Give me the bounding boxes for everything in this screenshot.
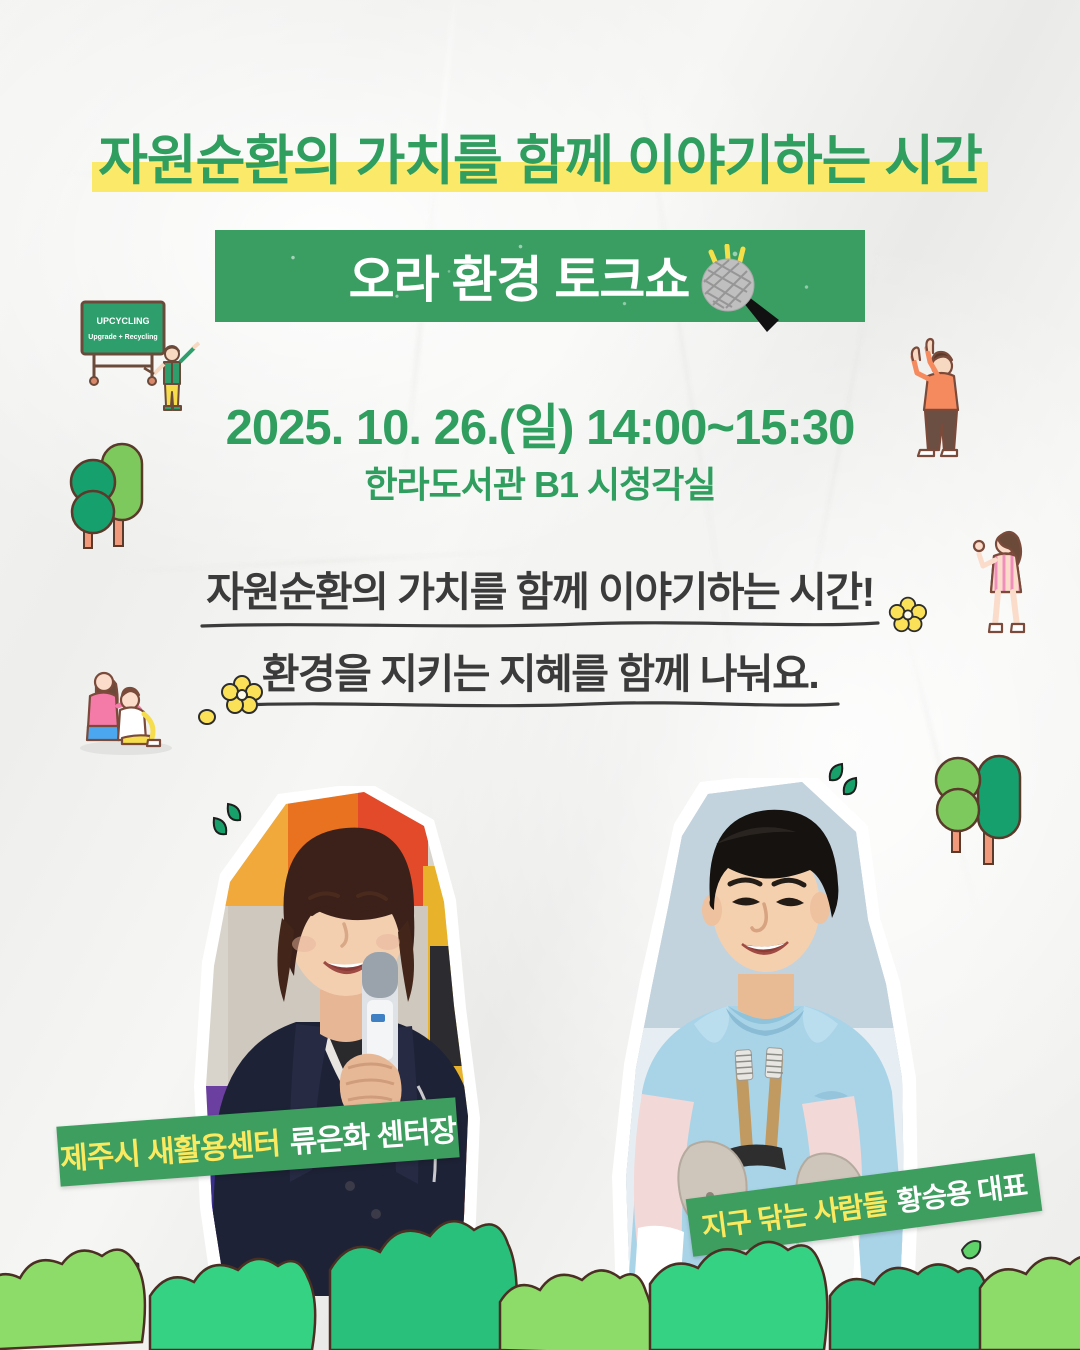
slogan-underline-1 — [200, 620, 880, 630]
microphone-icon — [691, 244, 787, 340]
tree-pair-left-illustration — [62, 430, 182, 570]
svg-text:UPCYCLING: UPCYCLING — [96, 316, 149, 326]
tree-pair-right-illustration — [928, 742, 1058, 892]
title-banner: 오라 환경 토크쇼 — [215, 230, 865, 322]
striped-dress-person-illustration — [958, 518, 1050, 642]
upcycling-chalkboard-illustration: UPCYCLING Upgrade + Recycling — [72, 296, 212, 416]
flower-icon — [216, 672, 266, 716]
headline: 자원순환의 가치를 함께 이야기하는 시간 — [88, 128, 992, 196]
headline-text: 자원순환의 가치를 함께 이야기하는 시간 — [98, 131, 982, 191]
speaker-1-name: 류은화 센터장 — [288, 1106, 458, 1162]
banner-title: 오라 환경 토크쇼 — [349, 240, 690, 312]
speaker-1-org: 제주시 새활용센터 — [58, 1118, 281, 1178]
poster-canvas: 자원순환의 가치를 함께 이야기하는 시간 오라 환경 토크쇼 — [0, 0, 1080, 1350]
dot-icon — [196, 706, 218, 728]
headline-area: 자원순환의 가치를 함께 이야기하는 시간 — [0, 128, 1080, 196]
slogan-underline-2 — [240, 700, 840, 710]
svg-text:Upgrade + Recycling: Upgrade + Recycling — [88, 334, 157, 341]
seated-people-illustration — [66, 656, 186, 760]
bottom-bushes-illustration — [0, 1200, 1080, 1350]
cheering-person-illustration — [898, 334, 988, 464]
flower-icon — [884, 594, 930, 634]
